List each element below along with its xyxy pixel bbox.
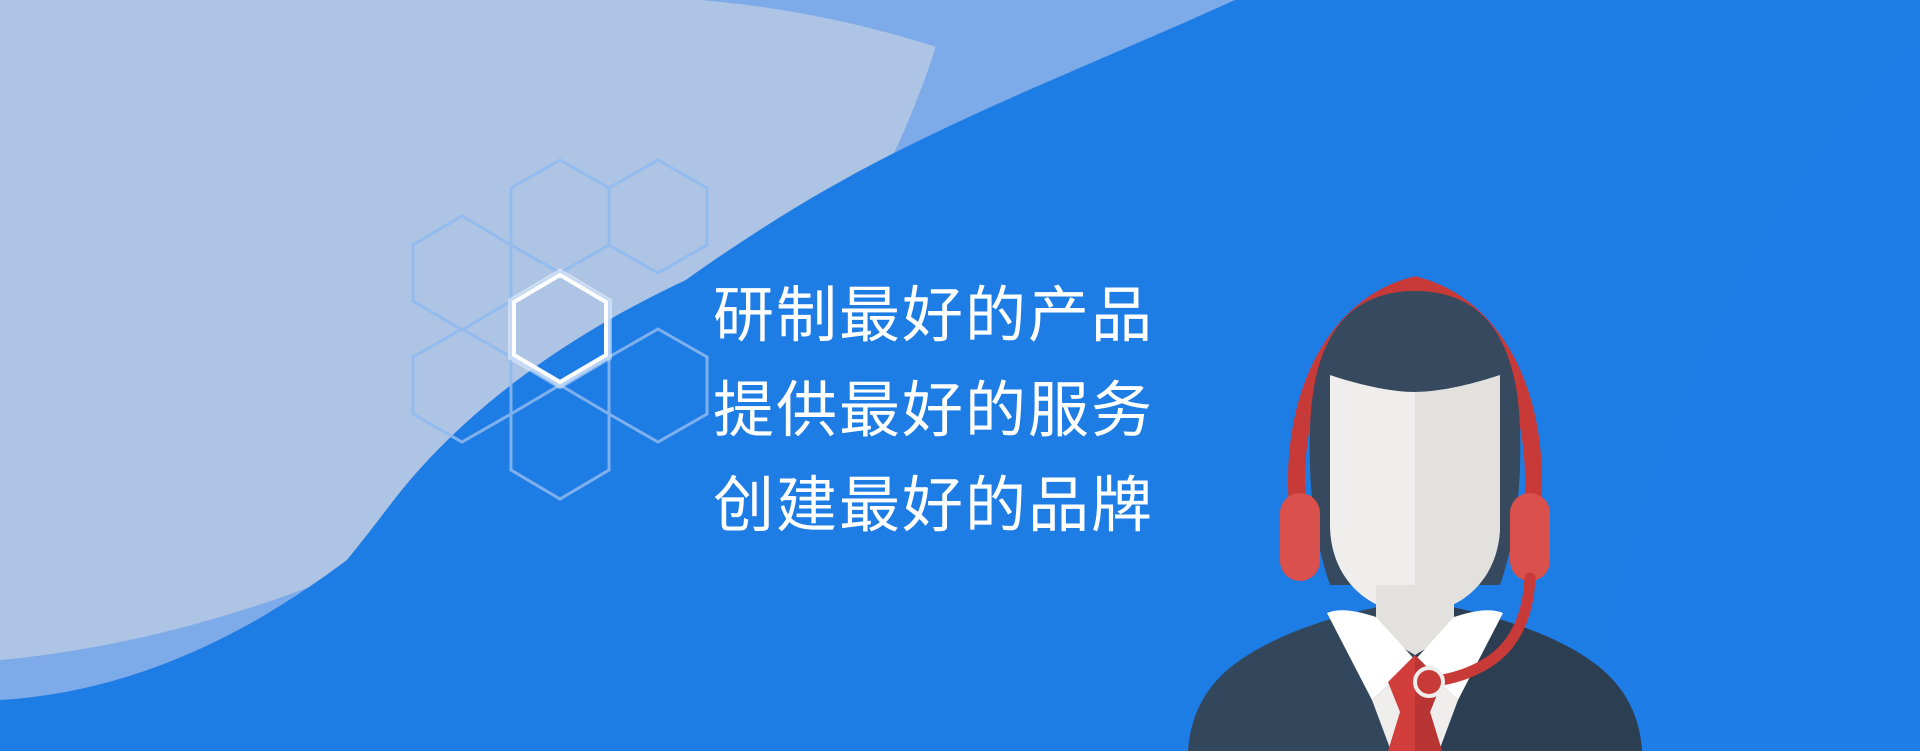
- headset-earpiece-right: [1510, 493, 1550, 581]
- headset-earpiece-left: [1280, 493, 1320, 581]
- headline-line-1: 研制最好的产品: [713, 268, 1253, 363]
- headline-line-2: 提供最好的服务: [713, 363, 1253, 458]
- headline-line-3: 创建最好的品牌: [713, 458, 1253, 553]
- hero-banner: 研制最好的产品 提供最好的服务 创建最好的品牌: [0, 0, 1920, 751]
- headline-block: 研制最好的产品 提供最好的服务 创建最好的品牌: [713, 268, 1253, 553]
- microphone-tip: [1415, 668, 1443, 696]
